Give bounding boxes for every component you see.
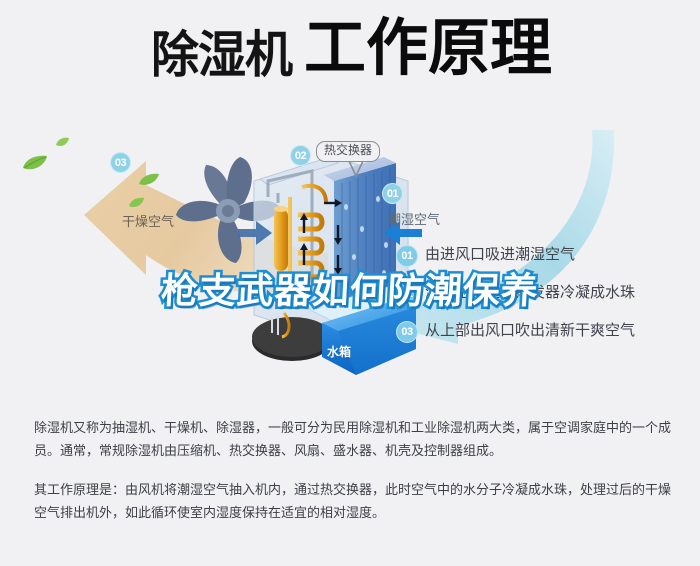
illustration-badge-01: 01 [382,183,403,204]
body-copy: 除湿机又称为抽湿机、干燥机、除湿器，一般可分为民用除湿机和工业除湿机两大类，属于… [34,416,674,524]
step-text: 从上部出风口吹出清新干爽空气 [425,321,635,341]
callout-pointer-icon [348,161,364,179]
page-title: 除湿机工作原理 [0,18,700,80]
overlay-headline-text: 枪支武器如何防潮保养 [160,262,540,314]
paragraph-1: 除湿机又称为抽湿机、干燥机、除湿器，一般可分为民用除湿机和工业除湿机两大类，属于… [34,416,674,462]
overlay-headline: 枪支武器如何防潮保养 [0,262,700,314]
water-tank-label: 水箱 [327,343,351,360]
step-badge: 03 [396,321,418,343]
list-item: 03 从上部出风口吹出清新干爽空气 [396,319,696,357]
page-title-part2: 工作原理 [304,18,552,80]
heat-exchanger-callout: 热交换器 [316,141,380,162]
leaf-icon [22,155,48,171]
illustration-badge-03: 03 [110,152,131,173]
page-title-part1: 除湿机 [151,30,292,80]
leaf-icon [128,197,145,208]
paragraph-2: 其工作原理是：由风机将潮湿空气抽入机内，通过热交换器，此时空气中的水分子冷凝成水… [34,478,674,524]
humid-air-label: 潮湿空气 [388,209,440,228]
leaf-icon [138,173,160,187]
illustration-badge-02: 02 [290,145,311,166]
dry-air-label: 干燥空气 [122,211,174,230]
leaf-icon [55,137,70,147]
infographic-page: 除湿机工作原理 [0,0,700,566]
